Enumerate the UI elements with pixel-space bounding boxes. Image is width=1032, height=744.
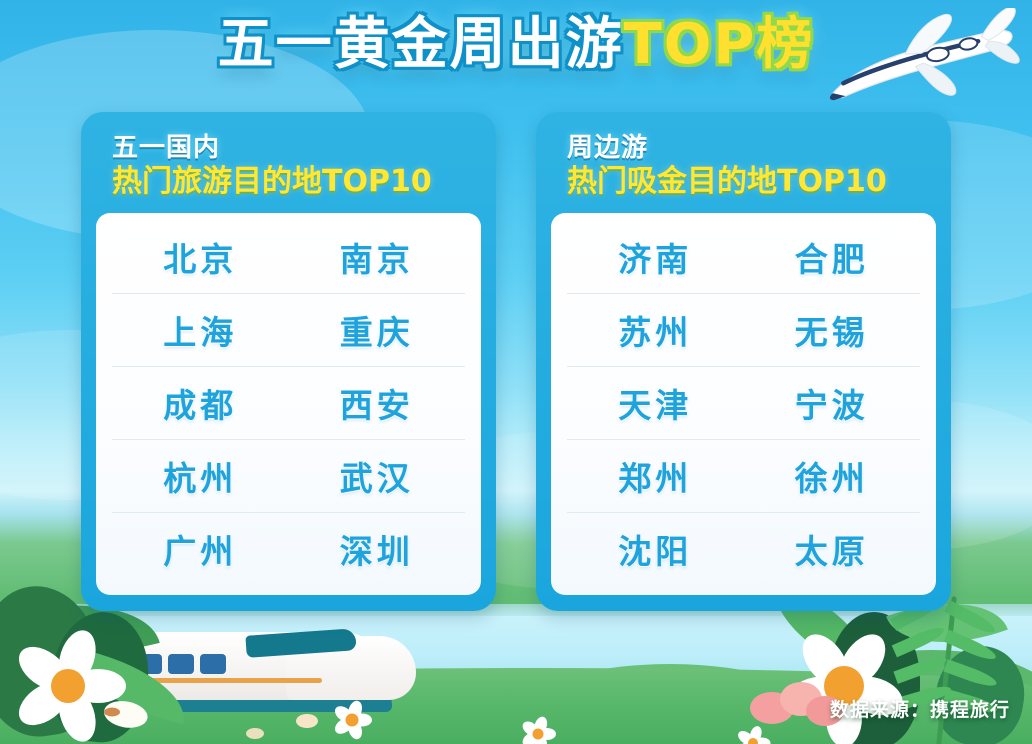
table-row: 天津 宁波: [567, 367, 920, 440]
city-cell[interactable]: 合肥: [744, 233, 921, 281]
panel-nearby-heading: 周边游 热门吸金目的地TOP10: [551, 134, 936, 199]
ranking-panels: 五一国内 热门旅游目的地TOP10 北京 南京 上海 重庆 成都 西安 杭州: [0, 112, 1032, 611]
city-cell[interactable]: 太原: [744, 525, 921, 573]
city-cell[interactable]: 成都: [112, 379, 289, 427]
table-row: 上海 重庆: [112, 294, 465, 367]
table-row: 郑州 徐州: [567, 440, 920, 513]
panel-domestic-list: 北京 南京 上海 重庆 成都 西安 杭州 武汉 广州 深圳: [96, 213, 481, 595]
infographic-canvas: 五一黄金周出游TOP榜 五一国内 热门旅游目的地TOP10 北京 南京 上海 重…: [0, 0, 1032, 744]
table-row: 苏州 无锡: [567, 294, 920, 367]
panel-domestic: 五一国内 热门旅游目的地TOP10 北京 南京 上海 重庆 成都 西安 杭州: [81, 112, 496, 611]
pebble: [246, 728, 264, 739]
city-cell[interactable]: 杭州: [112, 452, 289, 500]
pebble: [296, 714, 318, 728]
city-cell[interactable]: 南京: [289, 233, 466, 281]
city-cell[interactable]: 广州: [112, 525, 289, 573]
city-cell[interactable]: 武汉: [289, 452, 466, 500]
table-row: 沈阳 太原: [567, 513, 920, 585]
panel-nearby-subtitle: 周边游: [567, 134, 936, 164]
panel-domestic-heading: 五一国内 热门旅游目的地TOP10: [96, 134, 481, 199]
city-cell[interactable]: 苏州: [567, 306, 744, 354]
title-accent-text: TOP榜: [624, 12, 815, 77]
city-cell[interactable]: 天津: [567, 379, 744, 427]
city-cell[interactable]: 宁波: [744, 379, 921, 427]
table-row: 广州 深圳: [112, 513, 465, 585]
daisy-flower-icon: [74, 682, 150, 742]
table-row: 北京 南京: [112, 221, 465, 294]
airplane-icon: [811, 8, 1026, 118]
city-cell[interactable]: 济南: [567, 233, 744, 281]
title-main-text: 五一黄金周出游: [218, 12, 624, 77]
data-source-label: 数据来源：携程旅行: [830, 695, 1010, 722]
daisy-flower-icon: [520, 716, 556, 744]
city-cell[interactable]: 郑州: [567, 452, 744, 500]
city-cell[interactable]: 徐州: [744, 452, 921, 500]
panel-nearby-list: 济南 合肥 苏州 无锡 天津 宁波 郑州 徐州 沈阳 太原: [551, 213, 936, 595]
panel-nearby-title: 热门吸金目的地TOP10: [567, 164, 936, 199]
city-cell[interactable]: 无锡: [744, 306, 921, 354]
panel-nearby: 周边游 热门吸金目的地TOP10 济南 合肥 苏州 无锡 天津 宁波 郑州: [536, 112, 951, 611]
city-cell[interactable]: 西安: [289, 379, 466, 427]
panel-domestic-subtitle: 五一国内: [112, 134, 481, 164]
city-cell[interactable]: 北京: [112, 233, 289, 281]
city-cell[interactable]: 深圳: [289, 525, 466, 573]
daisy-flower-icon: [332, 700, 372, 740]
table-row: 杭州 武汉: [112, 440, 465, 513]
city-cell[interactable]: 沈阳: [567, 525, 744, 573]
table-row: 成都 西安: [112, 367, 465, 440]
panel-domestic-title: 热门旅游目的地TOP10: [112, 164, 481, 199]
table-row: 济南 合肥: [567, 221, 920, 294]
city-cell[interactable]: 重庆: [289, 306, 466, 354]
city-cell[interactable]: 上海: [112, 306, 289, 354]
